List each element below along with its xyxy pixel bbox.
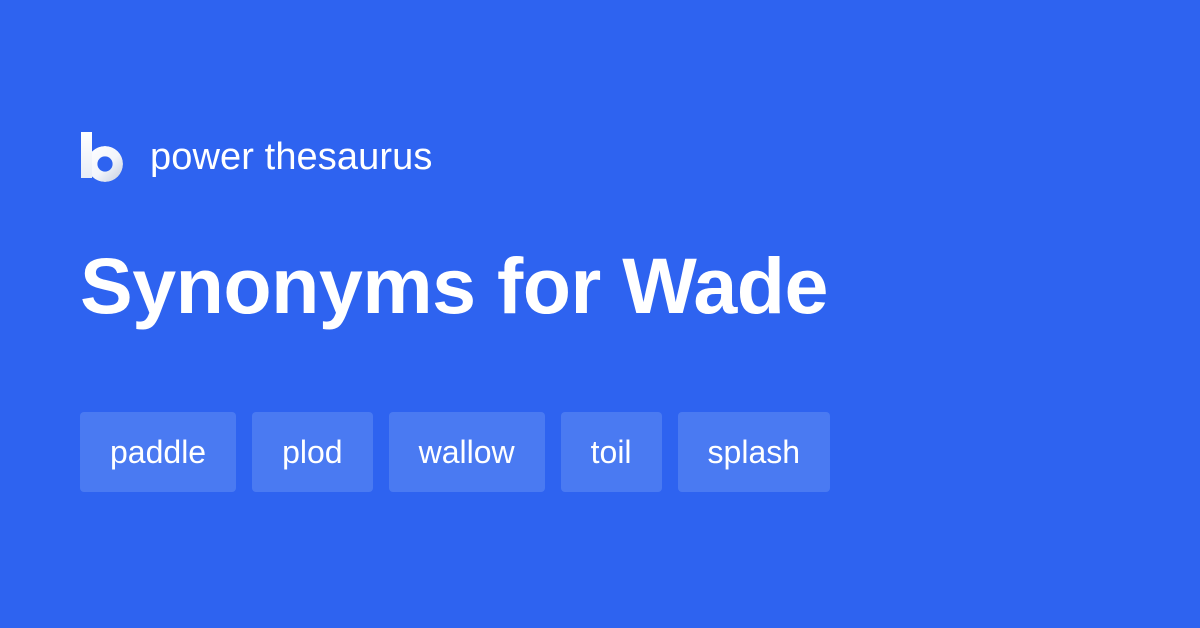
- synonym-chip-label: plod: [282, 436, 343, 468]
- synonym-chip[interactable]: paddle: [80, 412, 236, 492]
- og-preview-card: Power thesaurus Synonyms for Wade paddle…: [0, 0, 1200, 628]
- synonym-chip[interactable]: splash: [678, 412, 831, 492]
- synonym-chip-label: toil: [591, 436, 632, 468]
- brand-header[interactable]: Power thesaurus: [80, 128, 432, 186]
- synonym-chip[interactable]: wallow: [389, 412, 545, 492]
- synonym-chip[interactable]: toil: [561, 412, 662, 492]
- synonym-chip-label: paddle: [110, 436, 206, 468]
- synonym-chip-label: splash: [708, 436, 801, 468]
- power-thesaurus-b-logo-icon: [80, 132, 126, 182]
- brand-name: Power thesaurus: [150, 138, 432, 176]
- synonym-chip-label: wallow: [419, 436, 515, 468]
- page-title: Synonyms for Wade: [80, 245, 828, 327]
- synonym-chip[interactable]: plod: [252, 412, 373, 492]
- synonym-chip-list: paddle plod wallow toil splash: [80, 412, 830, 492]
